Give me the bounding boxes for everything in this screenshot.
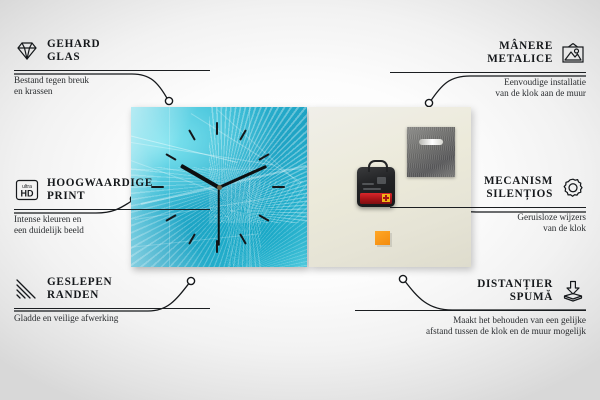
callout-title-line-1: DISTANȚIER <box>477 278 553 291</box>
callout-title-line-1: GEHARD <box>47 38 100 51</box>
callout-subtitle-line-1: Eenvoudige installatie <box>390 77 586 89</box>
gear-icon <box>560 176 586 200</box>
callout-divider <box>14 70 210 71</box>
clock-centre-hub <box>217 185 222 190</box>
battery <box>360 193 392 204</box>
callout-subtitle-line-2: van de klok aan de muur <box>390 88 586 100</box>
metal-hanger-plate <box>407 127 455 177</box>
beveled-edges-icon <box>14 277 40 301</box>
mechanism-detail <box>362 183 374 185</box>
callout-subtitle-line-1: Geruisloze wijzers <box>390 212 586 224</box>
svg-text:HD: HD <box>21 189 34 199</box>
clock-tick <box>216 122 218 135</box>
callout-title-line-1: GESLEPEN <box>47 276 112 289</box>
callout-subtitle-line-1: Intense kleuren en <box>14 214 210 226</box>
callout-header: GESLEPEN RANDEN <box>14 276 210 303</box>
callout-title-line-1: HOOGWAARDIGE <box>47 177 153 190</box>
picture-frame-icon <box>560 41 586 65</box>
callout-title-line-2: GLAS <box>47 51 100 64</box>
callout-divider <box>14 308 210 309</box>
mechanism-detail <box>377 177 386 184</box>
panel-seam <box>131 169 307 170</box>
callout-divider <box>390 207 586 208</box>
clock-tick <box>188 129 196 140</box>
diamond-icon <box>14 39 40 63</box>
callout-title-line-2: SILENȚIOS <box>484 188 553 201</box>
callout-header: GEHARD GLAS <box>14 38 210 65</box>
callout-hoogwaardige-print: ultra HD HOOGWAARDIGE PRINT Intense kleu… <box>14 177 210 237</box>
callout-manere-metalice: MÂNERE METALICE Eenvoudige installatie v… <box>390 40 586 100</box>
callout-header: ultra HD HOOGWAARDIGE PRINT <box>14 177 210 204</box>
callout-title-line-2: PRINT <box>47 190 153 203</box>
mechanism-hanger-hook <box>368 160 388 172</box>
callout-header: MÂNERE METALICE <box>390 40 586 67</box>
callout-subtitle-line-2: afstand tussen de klok en de muur mogeli… <box>355 326 586 338</box>
callout-header: DISTANȚIER SPUMĂ <box>355 278 586 305</box>
clock-tick <box>165 153 176 161</box>
callout-subtitle-line-2: van de klok <box>390 223 586 235</box>
callout-subtitle-line-1: Maakt het behouden van een gelijke <box>355 315 586 327</box>
mechanism-detail <box>363 188 381 190</box>
clock-tick <box>272 186 285 188</box>
feather-fan-texture-3 <box>227 181 307 267</box>
panel-seam <box>249 107 250 267</box>
foam-spacer <box>375 231 390 245</box>
callout-divider <box>355 310 586 311</box>
callout-subtitle-line-1: Bestand tegen breuk <box>14 75 210 87</box>
hanger-slot <box>419 139 443 145</box>
battery-plus-terminal <box>382 194 390 202</box>
callout-distantier-spuma: DISTANȚIER SPUMĂ Maakt het behouden van … <box>355 278 586 338</box>
callout-divider <box>14 209 210 210</box>
connector-endpoint-gehard-glas <box>165 97 172 104</box>
callout-divider <box>390 72 586 73</box>
callout-title-line-1: MECANISM <box>484 175 553 188</box>
connector-endpoint-manere-metalice <box>425 99 432 106</box>
callout-subtitle-line-2: een duidelijk beeld <box>14 225 210 237</box>
ultra-hd-icon: ultra HD <box>14 178 40 202</box>
product-infographic: GEHARD GLAS Bestand tegen breuk en krass… <box>0 0 600 400</box>
spacer-arrow-icon <box>560 279 586 303</box>
callout-title-line-1: MÂNERE <box>487 40 553 53</box>
callout-subtitle-line-2: en krassen <box>14 86 210 98</box>
callout-mecanism-silentios: MECANISM SILENȚIOS Geruisloze wijzers va… <box>390 175 586 235</box>
callout-title-line-2: SPUMĂ <box>477 291 553 304</box>
callout-header: MECANISM SILENȚIOS <box>390 175 586 202</box>
callout-subtitle-line-1: Gladde en veilige afwerking <box>14 313 210 325</box>
callout-title-line-2: METALICE <box>487 53 553 66</box>
clock-second-hand <box>218 188 220 246</box>
callout-geslepen-randen: GESLEPEN RANDEN Gladde en veilige afwerk… <box>14 276 210 324</box>
callout-gehard-glas: GEHARD GLAS Bestand tegen breuk en krass… <box>14 38 210 98</box>
callout-title-line-2: RANDEN <box>47 289 112 302</box>
